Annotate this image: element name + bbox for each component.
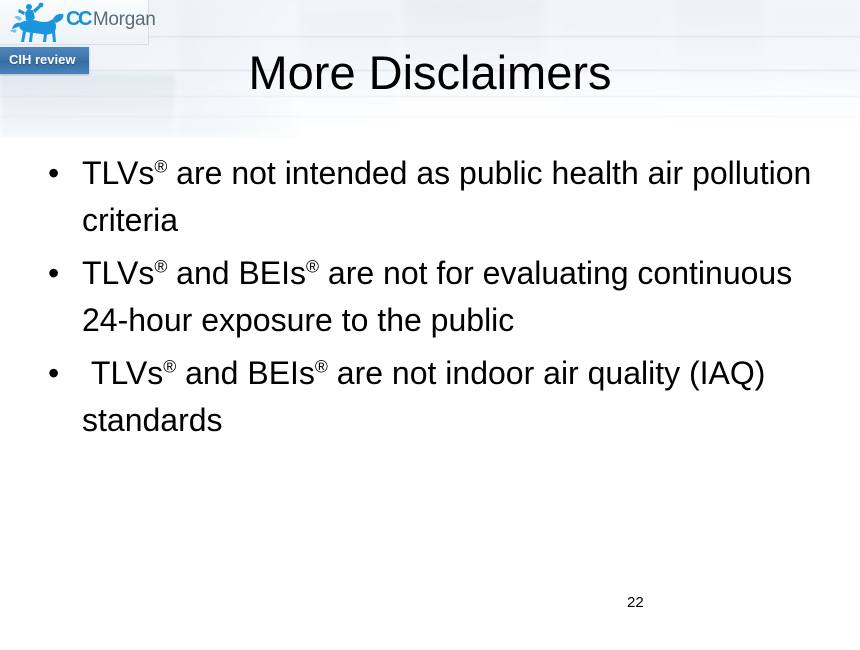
bullet-mid-text: are not intended as public health air po… <box>82 155 820 238</box>
bullet-marker: • <box>40 150 82 197</box>
list-item: • TLVs® are not intended as public healt… <box>40 150 830 244</box>
header-horizontal-line <box>0 116 860 117</box>
registered-trademark-icon: ® <box>154 156 167 176</box>
bullet-text: TLVs® are not intended as public health … <box>82 150 830 244</box>
bullet-list: • TLVs® are not intended as public healt… <box>40 150 830 450</box>
bullet-text: TLVs® and BEIs® are not for evaluating c… <box>82 250 830 344</box>
registered-trademark-icon: ® <box>306 256 319 276</box>
brand-morgan-text: Morgan <box>93 9 156 30</box>
bullet-marker: • <box>40 350 82 397</box>
bullet-lead-text: TLVs <box>82 255 154 291</box>
bullet-lead-text: TLVs <box>82 155 154 191</box>
slide-root: CCMorgan CIH review More Disclaimers • T… <box>0 0 860 650</box>
bullet-text: TLVs® and BEIs® are not indoor air quali… <box>82 350 830 444</box>
list-item: • TLVs® and BEIs® are not for evaluating… <box>40 250 830 344</box>
page-number: 22 <box>627 594 644 611</box>
page-title: More Disclaimers <box>60 48 800 99</box>
bullet-mid-text: and BEIs <box>167 255 306 291</box>
brand-wordmark: CCMorgan <box>66 9 156 29</box>
bullet-marker: • <box>40 250 82 297</box>
registered-trademark-icon: ® <box>163 356 176 376</box>
registered-trademark-icon: ® <box>315 356 328 376</box>
bullet-mid-text: and BEIs <box>176 355 315 391</box>
list-item: • TLVs® and BEIs® are not indoor air qua… <box>40 350 830 444</box>
registered-trademark-icon: ® <box>154 256 167 276</box>
bullet-lead-text: TLVs <box>82 355 163 391</box>
brand-cc-text: CC <box>66 8 90 30</box>
horse-rider-logo-icon <box>8 1 66 43</box>
logo-plate: CCMorgan <box>0 0 149 45</box>
